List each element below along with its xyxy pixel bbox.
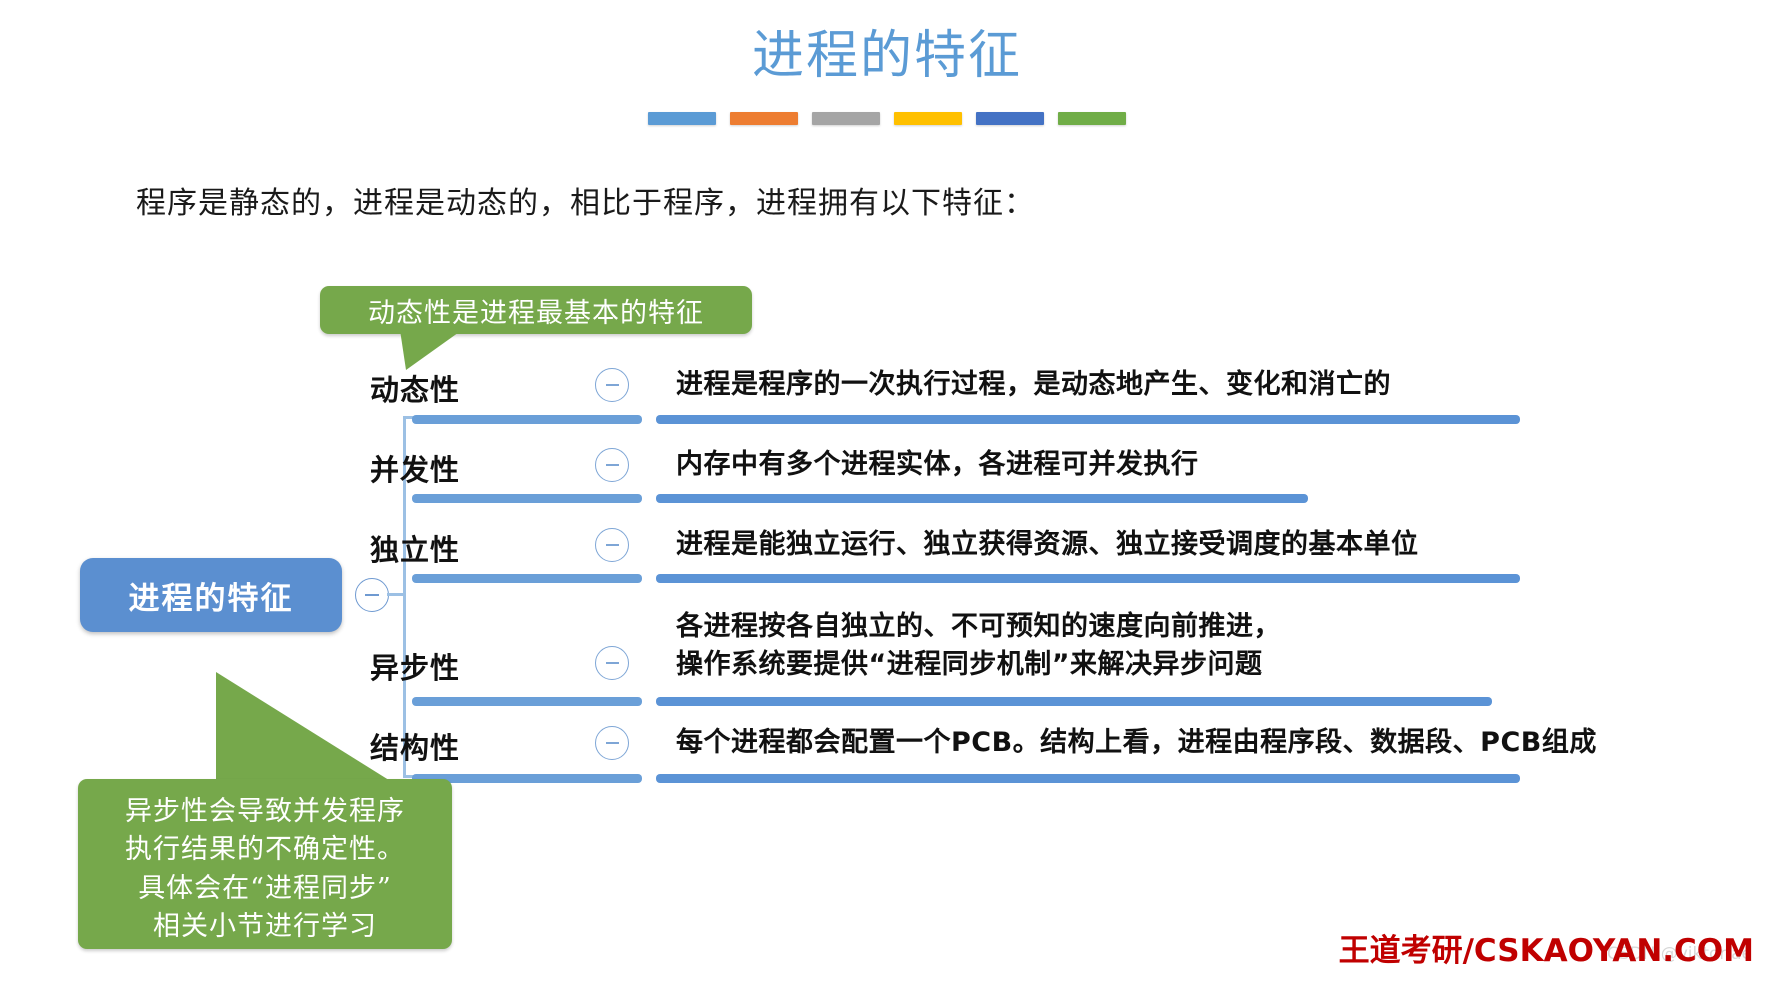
mindmap-row-desc-4: 各进程按各自独立的、不可预知的速度向前推进， 操作系统要提供“进程同步机制”来解… [676, 608, 1281, 685]
mindmap-row-desc-1: 进程是程序的一次执行过程，是动态地产生、变化和消亡的 [676, 366, 1391, 404]
circle-minus-icon-row-4[interactable] [595, 646, 629, 680]
row-underline-long-4 [656, 697, 1492, 706]
minus-glyph [606, 544, 619, 546]
minus-glyph [606, 384, 619, 386]
minus-glyph [606, 742, 619, 744]
callout-async-text: 异步性会导致并发程序 执行结果的不确定性。 具体会在“进程同步” 相关小节进行学… [96, 793, 434, 946]
row-underline-long-2 [656, 494, 1308, 503]
circle-minus-icon-row-2[interactable] [595, 448, 629, 482]
row-underline-short-1 [412, 415, 642, 424]
mindmap-row-desc-5: 每个进程都会配置一个PCB。结构上看，进程由程序段、数据段、PCB组成 [676, 724, 1597, 762]
row-underline-long-3 [656, 574, 1520, 583]
row-underline-short-4 [412, 697, 642, 706]
callout-dynamic-text: 动态性是进程最基本的特征 [368, 291, 704, 330]
watermark-brand: 王道考研/CSKAOYAN.COM [1339, 925, 1754, 970]
row-underline-long-1 [656, 415, 1520, 424]
row-underline-short-2 [412, 494, 642, 503]
slide-canvas: 进程的特征 程序是静态的，进程是动态的，相比于程序，进程拥有以下特征： 进程的特… [0, 0, 1774, 988]
row-underline-short-3 [412, 574, 642, 583]
minus-glyph [606, 464, 619, 466]
circle-minus-icon-row-1[interactable] [595, 368, 629, 402]
mindmap-row-label-2: 并发性 [310, 447, 460, 489]
circle-minus-icon-root[interactable] [355, 578, 389, 612]
mindmap-row-label-1: 动态性 [310, 367, 460, 409]
circle-minus-icon-row-3[interactable] [595, 528, 629, 562]
mindmap-row-label-3: 独立性 [310, 527, 460, 569]
mindmap-row-desc-2: 内存中有多个进程实体，各进程可并发执行 [676, 446, 1199, 484]
callout-async: 异步性会导致并发程序 执行结果的不确定性。 具体会在“进程同步” 相关小节进行学… [78, 779, 452, 949]
callout-dynamic-tail [400, 330, 470, 372]
minus-glyph [606, 662, 619, 664]
mindmap-root-label: 进程的特征 [129, 573, 294, 618]
row-underline-long-5 [656, 774, 1520, 783]
mindmap-row-desc-3: 进程是能独立运行、独立获得资源、独立接受调度的基本单位 [676, 526, 1419, 564]
minus-glyph [365, 594, 379, 596]
mindmap-root-node[interactable]: 进程的特征 [80, 558, 342, 632]
circle-minus-icon-row-5[interactable] [595, 726, 629, 760]
callout-dynamic: 动态性是进程最基本的特征 [320, 286, 752, 334]
